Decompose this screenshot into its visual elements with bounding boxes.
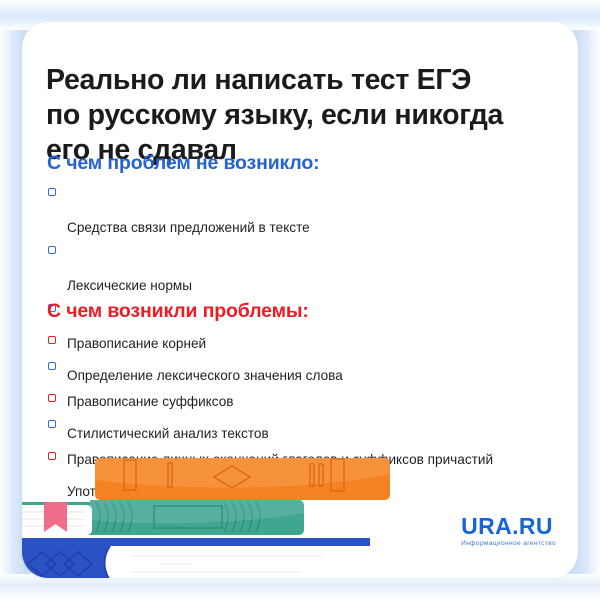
list-item-label: Средства связи предложений в тексте <box>67 220 310 235</box>
list-item: Употребление паронимов <box>47 449 563 500</box>
list-item-label: Определение лексического значения слова <box>67 368 343 383</box>
square-outline-blue-icon <box>48 246 56 254</box>
section-no-problems-title: С чем проблем не возникло: <box>47 152 563 175</box>
list-item-label: Лексические нормы <box>67 278 192 293</box>
infographic-card: Реально ли написать тест ЕГЭ по русскому… <box>22 22 578 578</box>
list-item: Знаки препинания при словах и конструкци… <box>47 565 563 579</box>
site-logo[interactable]: URA.RU Информационное агентство <box>461 515 556 548</box>
square-outline-red-icon <box>48 510 56 518</box>
infographic-canvas: Реально ли написать тест ЕГЭ по русскому… <box>0 0 600 600</box>
list-item-label: Морфологические нормы <box>67 542 228 557</box>
list-item-label: Употребление паронимов <box>67 484 229 499</box>
list-item-label: Стилистический анализ текстов <box>67 426 269 441</box>
list-item: Стилистический анализ текстов <box>47 391 563 442</box>
square-outline-red-icon <box>48 452 56 460</box>
square-outline-red-icon <box>48 394 56 402</box>
square-outline-blue-icon <box>48 188 56 196</box>
list-item: Определение лексического значения слова <box>47 333 563 384</box>
section-problems-title: С чем возникли проблемы: <box>47 300 563 323</box>
square-outline-red-icon <box>48 336 56 344</box>
square-outline-red-icon <box>48 568 56 576</box>
list-item: Лексические нормы <box>47 243 563 294</box>
logo-wordmark: URA.RU <box>461 515 556 538</box>
logo-tagline: Информационное агентство <box>461 541 556 548</box>
list-item: Средства связи предложений в тексте <box>47 185 563 236</box>
